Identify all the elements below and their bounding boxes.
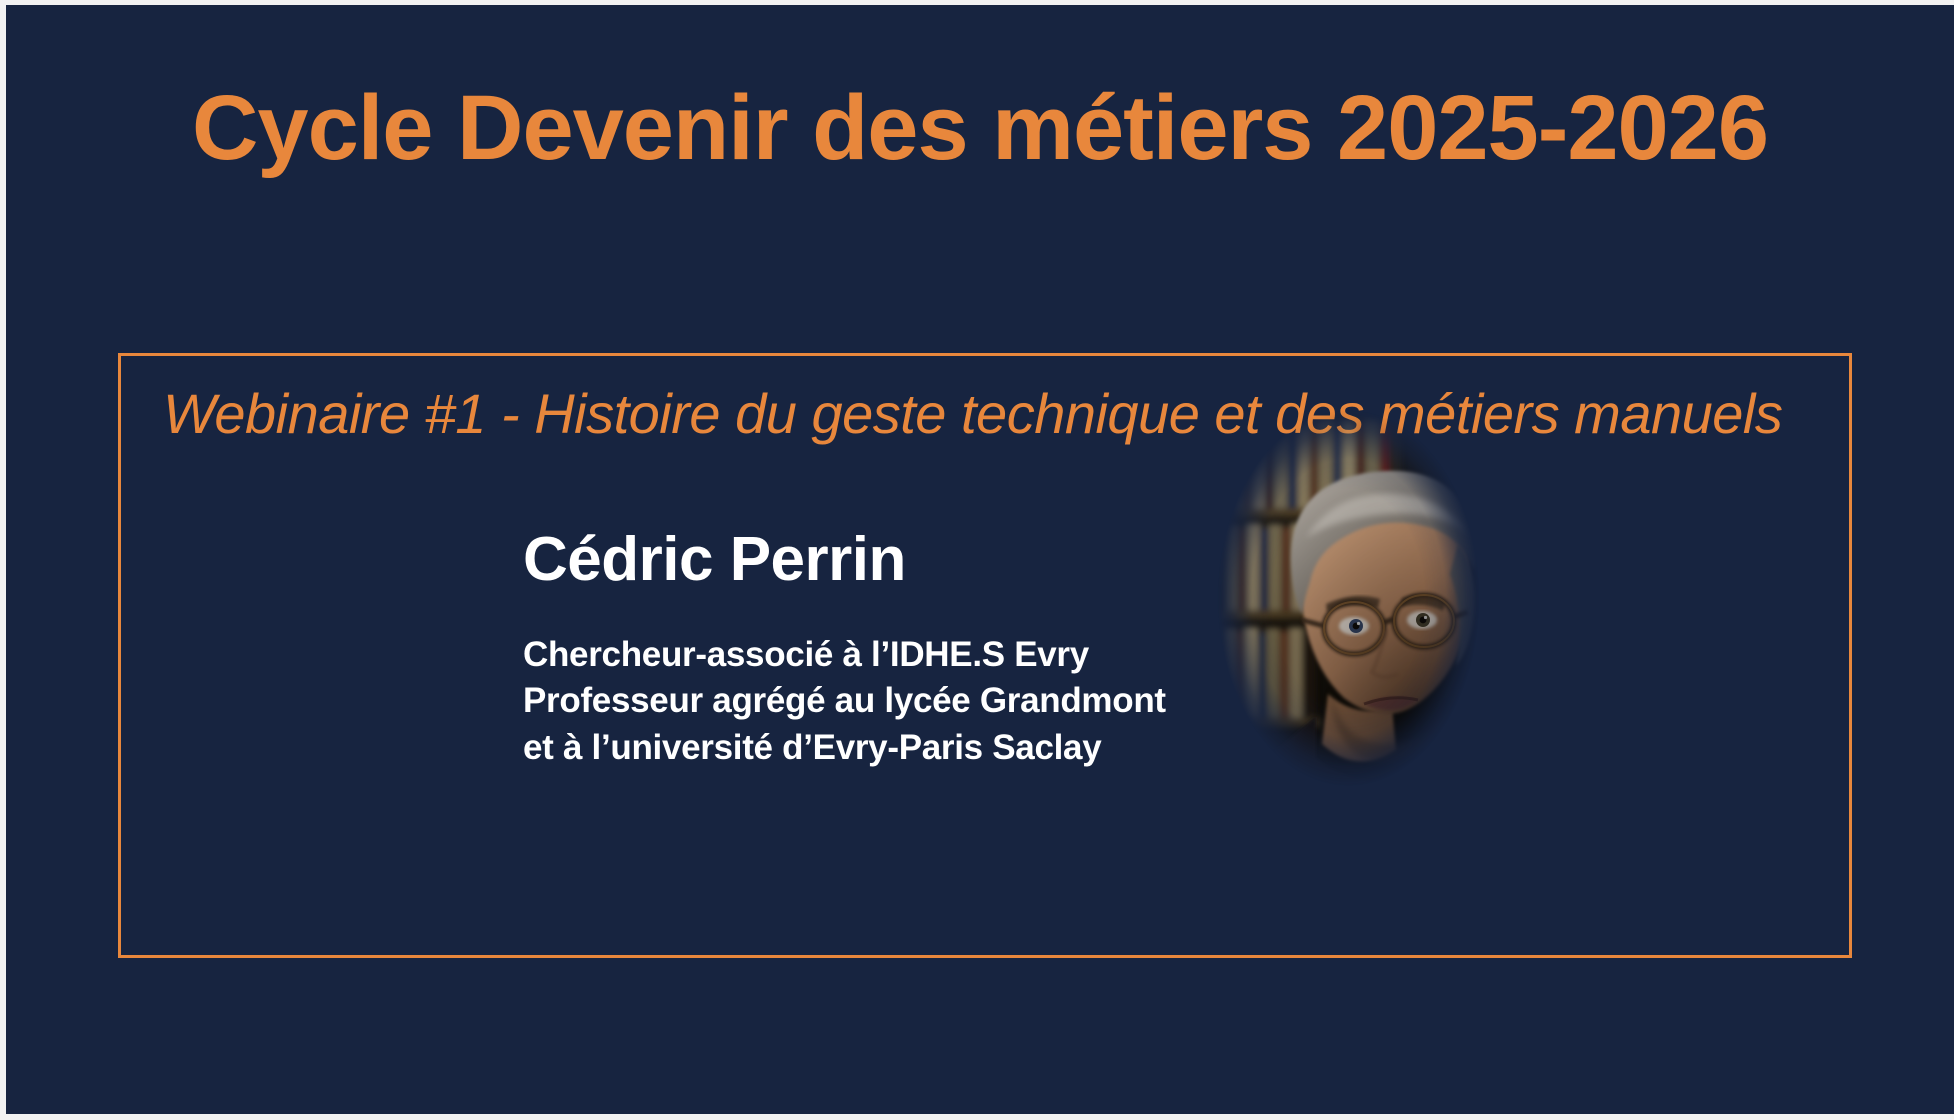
slide-canvas: Cycle Devenir des métiers 2025-2026 Webi… xyxy=(0,0,1954,1120)
presentation-slide: Cycle Devenir des métiers 2025-2026 Webi… xyxy=(6,5,1954,1114)
webinar-subtitle: Webinaire #1 - Histoire du geste techniq… xyxy=(163,380,1782,447)
speaker-affiliation-line-2: Professeur agrégé au lycée Grandmont xyxy=(523,678,1203,724)
page-title: Cycle Devenir des métiers 2025-2026 xyxy=(6,77,1954,180)
speaker-portrait xyxy=(1206,398,1491,798)
portrait-vignette-mask xyxy=(1206,398,1491,798)
content-frame-box: Webinaire #1 - Histoire du geste techniq… xyxy=(118,353,1852,958)
speaker-info-block: Cédric Perrin Chercheur-associé à l’IDHE… xyxy=(523,526,1203,771)
speaker-affiliation-line-1: Chercheur-associé à l’IDHE.S Evry xyxy=(523,632,1203,678)
portrait-photo-image xyxy=(1206,398,1491,798)
speaker-name: Cédric Perrin xyxy=(523,526,1203,594)
speaker-affiliation-line-3: et à l’université d’Evry-Paris Saclay xyxy=(523,725,1203,771)
